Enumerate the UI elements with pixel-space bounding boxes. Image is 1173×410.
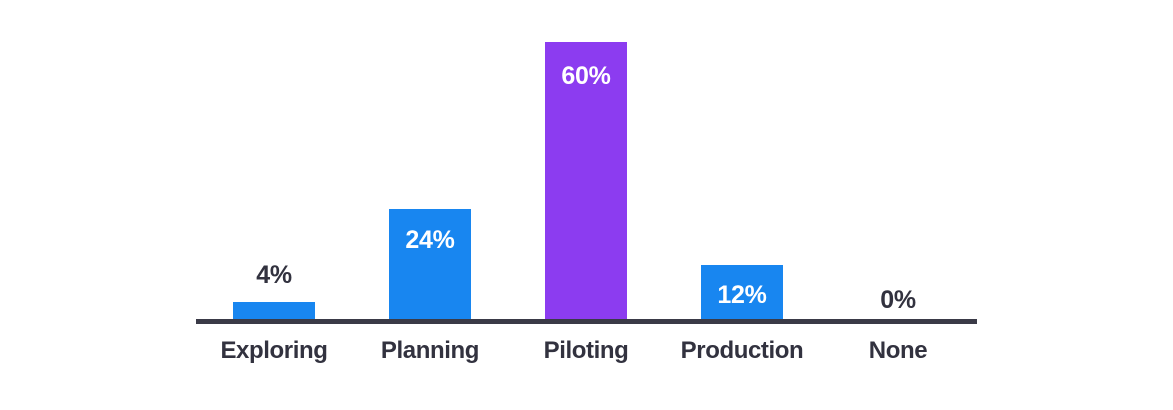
- bar-value-label-planning: 24%: [389, 228, 471, 253]
- x-axis-label-none: None: [820, 336, 976, 366]
- x-axis-label-piloting: Piloting: [508, 336, 664, 366]
- bar-group-exploring: 4%: [196, 0, 352, 321]
- bar-group-production: 12%: [664, 0, 820, 321]
- bar-piloting[interactable]: 60%: [545, 42, 627, 321]
- x-axis-label-production: Production: [664, 336, 820, 366]
- bar-group-none: 0%: [820, 0, 976, 321]
- x-axis-line: [196, 319, 977, 324]
- bar-value-label-piloting: 60%: [545, 64, 627, 89]
- x-axis-label-planning: Planning: [352, 336, 508, 366]
- bar-value-label-exploring: 4%: [204, 263, 344, 288]
- bar-group-piloting: 60%: [508, 0, 664, 321]
- bar-value-label-production: 12%: [701, 283, 783, 308]
- bar-chart: 4% 24% 60% 12% 0% Exploring Plan: [0, 0, 1173, 410]
- plot-area: 4% 24% 60% 12% 0%: [196, 0, 977, 321]
- bar-group-planning: 24%: [352, 0, 508, 321]
- x-axis-tick-labels: Exploring Planning Piloting Production N…: [196, 336, 977, 376]
- bar-planning[interactable]: 24%: [389, 209, 471, 321]
- bar-value-label-none: 0%: [828, 288, 968, 313]
- bar-production[interactable]: 12%: [701, 265, 783, 321]
- x-axis-label-exploring: Exploring: [196, 336, 352, 366]
